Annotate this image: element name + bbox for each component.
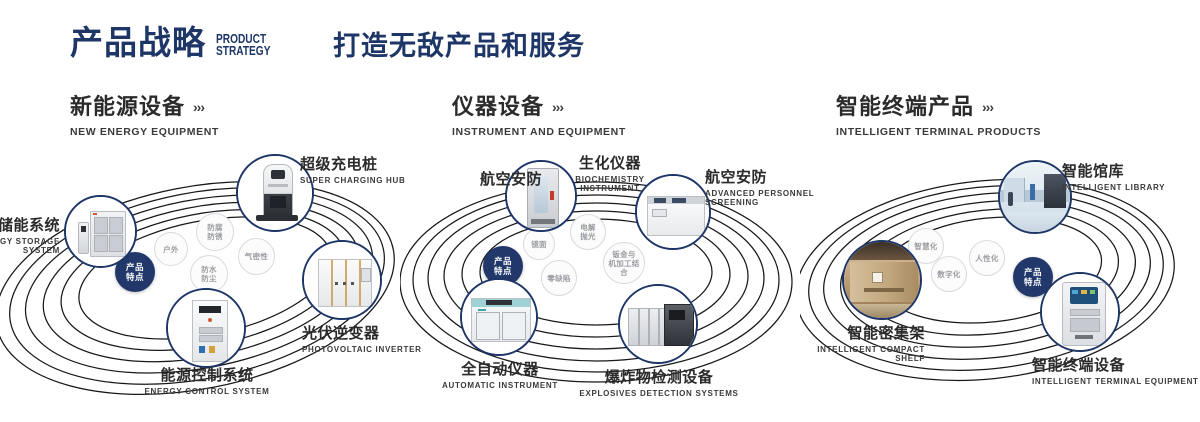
node-energy-control-system[interactable] bbox=[166, 288, 246, 368]
node-label-en: AUTOMATIC INSTRUMENT bbox=[425, 381, 575, 391]
node-label-en: ENERGY CONTROL SYSTEM bbox=[102, 387, 312, 397]
page-subtitle: 打造无敌产品和服务 bbox=[333, 33, 585, 60]
node-label-intelligent-compact-shelf: 智能密集架 INTELLIGENT COMPACT SHELF bbox=[745, 326, 925, 364]
node-label-cn: 智能密集架 bbox=[745, 326, 925, 342]
product-strategy-infographic: 产品战略 PRODUCTSTRATEGY 打造无敌产品和服务 新能源设备››› … bbox=[0, 0, 1200, 422]
section-title-cn: 智能终端产品 bbox=[836, 96, 974, 118]
cluster-instrument-and-equipment: 镜面 电解 抛光 零缺陷 钣金与 机加工结合 产品 特点 生化仪器 BIOCHE… bbox=[400, 150, 800, 422]
feature-bubble: 人性化 bbox=[969, 240, 1005, 276]
feature-bubble: 钣金与 机加工结合 bbox=[603, 242, 645, 284]
feature-bubble: 镜面 bbox=[523, 228, 555, 260]
node-label-cn: 航空安防 bbox=[390, 172, 542, 188]
node-label-en: INTELLIGENT TERMINAL EQUIPMENT bbox=[1032, 377, 1200, 387]
node-label-intelligent-terminal-equipment: 智能终端设备 INTELLIGENT TERMINAL EQUIPMENT bbox=[1032, 358, 1200, 386]
page-title-en: PRODUCTSTRATEGY bbox=[216, 33, 270, 57]
section-heading-instrument: 仪器设备››› INSTRUMENT AND EQUIPMENT bbox=[452, 96, 626, 138]
page-title: 产品战略 PRODUCTSTRATEGY bbox=[70, 26, 286, 59]
chevrons-right-icon: ››› bbox=[193, 99, 204, 115]
node-label-cn: 生化仪器 bbox=[550, 156, 670, 172]
node-label-en: INTELLIGENT LIBRARY bbox=[1062, 183, 1200, 193]
feature-bubble: 户外 bbox=[154, 232, 188, 266]
node-label-explosives-detection-systems: 爆炸物检测设备 EXPLOSIVES DETECTION SYSTEMS bbox=[573, 370, 745, 398]
node-label-energy-control-system: 能源控制系统 ENERGY CONTROL SYSTEM bbox=[102, 368, 312, 396]
node-label-en: INTELLIGENT COMPACT SHELF bbox=[745, 345, 925, 364]
node-automatic-instrument[interactable] bbox=[460, 278, 538, 356]
section-title-cn: 仪器设备 bbox=[452, 96, 544, 118]
node-explosives-detection-systems[interactable] bbox=[618, 284, 698, 364]
node-label-aviation-security-left: 航空安防 bbox=[390, 172, 542, 188]
feature-bubble: 防腐 防锈 bbox=[196, 213, 234, 251]
feature-bubble: 气密性 bbox=[238, 238, 275, 275]
section-title-en: NEW ENERGY EQUIPMENT bbox=[70, 126, 219, 138]
node-label-en: EXPLOSIVES DETECTION SYSTEMS bbox=[573, 389, 745, 399]
node-label-en: ENERGY STORAGE SYSTEM bbox=[0, 237, 60, 256]
section-title-cn: 新能源设备 bbox=[70, 96, 185, 118]
node-label-cn: 储能系统 bbox=[0, 218, 60, 234]
node-photovoltaic-inverter[interactable] bbox=[302, 240, 382, 320]
node-label-intelligent-library: 智能馆库 INTELLIGENT LIBRARY bbox=[1062, 164, 1200, 192]
node-label-cn: 能源控制系统 bbox=[102, 368, 312, 384]
node-intelligent-terminal-equipment[interactable] bbox=[1040, 272, 1120, 352]
node-label-cn: 全自动仪器 bbox=[425, 362, 575, 378]
node-label-cn: 智能终端设备 bbox=[1032, 358, 1200, 374]
cluster-new-energy-equipment: 户外 防腐 防锈 防水 防尘 气密性 产品 特点 储能系统 ENERG bbox=[0, 150, 400, 422]
feature-bubble: 零缺陷 bbox=[541, 260, 577, 296]
node-intelligent-library[interactable] bbox=[998, 160, 1072, 234]
node-energy-storage-system[interactable] bbox=[64, 195, 137, 268]
chevrons-right-icon: ››› bbox=[552, 99, 563, 115]
feature-bubble: 电解 抛光 bbox=[570, 214, 606, 250]
section-heading-intelligent: 智能终端产品››› INTELLIGENT TERMINAL PRODUCTS bbox=[836, 96, 1041, 138]
node-label-cn: 智能馆库 bbox=[1062, 164, 1200, 180]
section-title-en: INTELLIGENT TERMINAL PRODUCTS bbox=[836, 126, 1041, 138]
cluster-intelligent-terminal-products: 智慧化 数字化 人性化 产品 特点 智能馆库 INTELLIGENT LIBRA… bbox=[800, 150, 1200, 422]
feature-bubble: 数字化 bbox=[931, 256, 967, 292]
section-title-en: INSTRUMENT AND EQUIPMENT bbox=[452, 126, 626, 138]
node-advanced-personnel-screening[interactable] bbox=[635, 174, 711, 250]
page-title-cn: 产品战略 bbox=[70, 26, 206, 59]
node-label-automatic-instrument: 全自动仪器 AUTOMATIC INSTRUMENT bbox=[425, 362, 575, 390]
node-label-energy-storage-system: 储能系统 ENERGY STORAGE SYSTEM bbox=[0, 218, 60, 256]
chevrons-right-icon: ››› bbox=[982, 99, 993, 115]
section-heading-new-energy: 新能源设备››› NEW ENERGY EQUIPMENT bbox=[70, 96, 219, 138]
node-label-cn: 爆炸物检测设备 bbox=[573, 370, 745, 386]
node-intelligent-compact-shelf[interactable] bbox=[842, 240, 922, 320]
